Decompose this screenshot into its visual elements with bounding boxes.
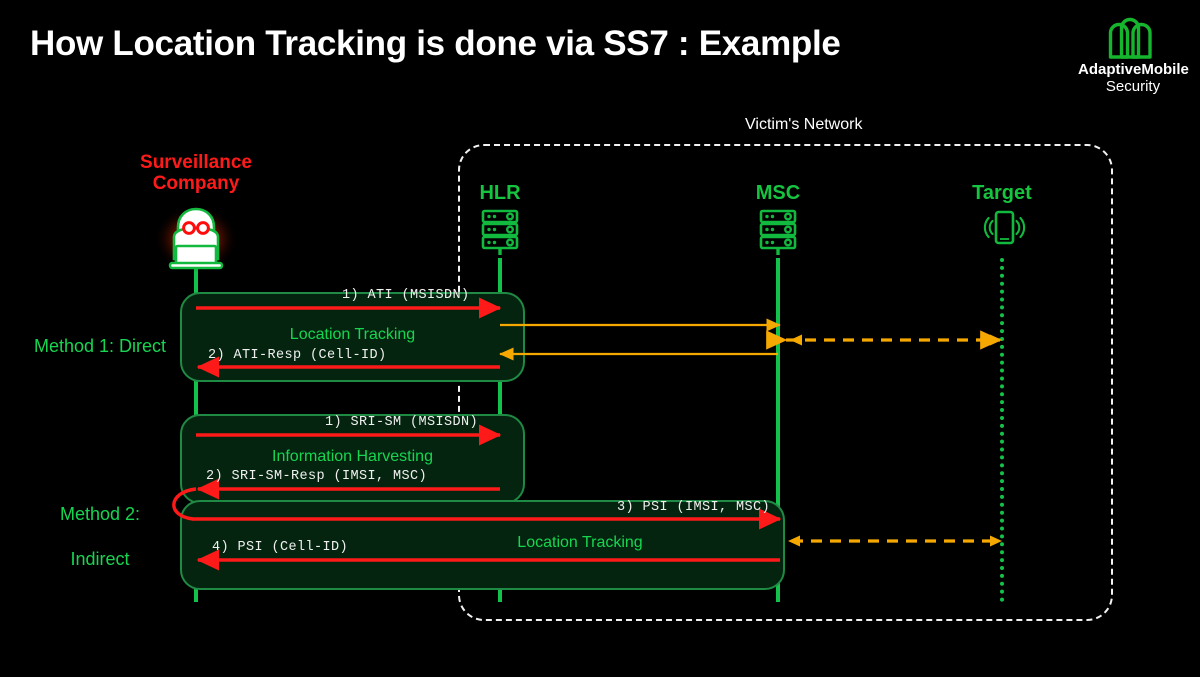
msg-label-4-sri-sm-resp: 2) SRI-SM-Resp (IMSI, MSC) <box>206 469 427 484</box>
msg-label-6-psi-cellid: 4) PSI (Cell-ID) <box>212 540 348 555</box>
flow-arrow-msc-target-2 <box>788 536 1002 547</box>
msg-label-2-ati-resp: 2) ATI-Resp (Cell-ID) <box>208 348 387 363</box>
arrows-layer <box>0 0 1200 677</box>
msg-label-3-sri-sm: 1) SRI-SM (MSISDN) <box>325 415 478 430</box>
diagram-canvas: How Location Tracking is done via SS7 : … <box>0 0 1200 677</box>
msg-label-1-ati: 1) ATI (MSISDN) <box>342 288 470 303</box>
flow-arrow-msc-target-1 <box>786 335 1002 346</box>
msg-connector-curve <box>174 489 196 519</box>
msg-label-5-psi: 3) PSI (IMSI, MSC) <box>617 500 770 515</box>
